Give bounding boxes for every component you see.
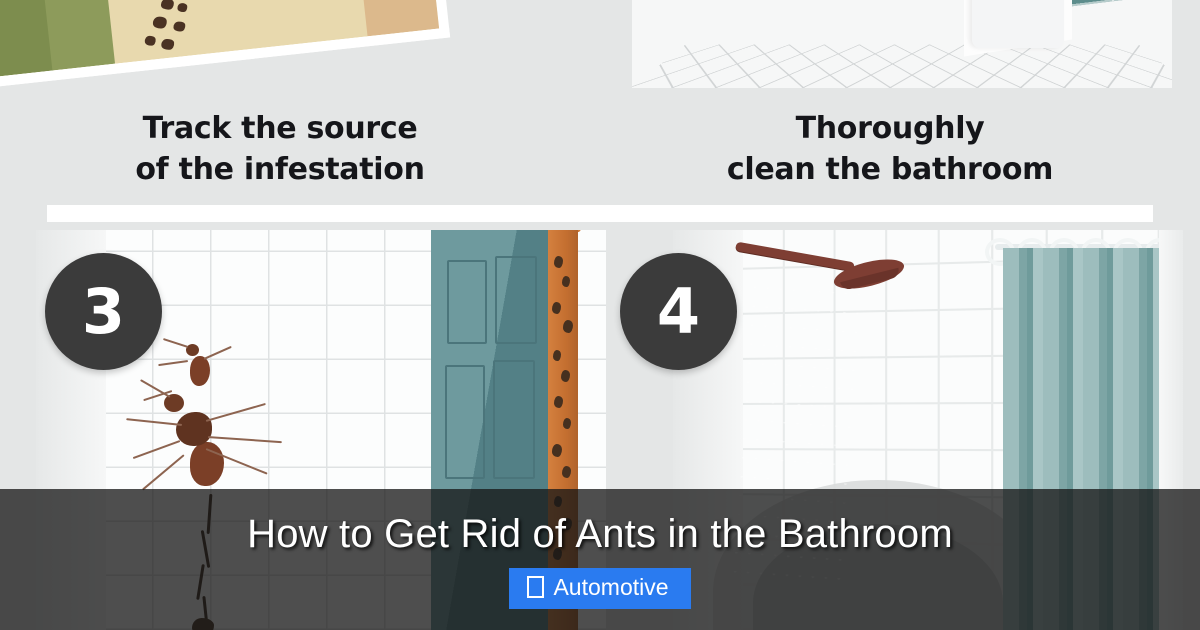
ant-leg bbox=[204, 346, 232, 360]
ant-icon bbox=[553, 350, 561, 361]
ant-trail-on-ground-photo bbox=[0, 0, 450, 91]
step-1-caption-line2: of the infestation bbox=[40, 149, 520, 190]
step-3-number-badge: 3 bbox=[45, 253, 162, 370]
ant-icon bbox=[552, 444, 562, 457]
ground-terrain-graphic bbox=[0, 0, 439, 80]
section-divider bbox=[47, 205, 1153, 222]
step-1-caption-line1: Track the source bbox=[40, 108, 520, 149]
infographic-stage: Track the source of the infestation Thor… bbox=[0, 0, 1200, 630]
page-title: How to Get Rid of Ants in the Bathroom bbox=[0, 512, 1200, 557]
ant-leg bbox=[142, 454, 185, 490]
ant-thorax bbox=[176, 412, 212, 446]
category-badge-label: Automotive bbox=[553, 574, 668, 600]
ant-icon bbox=[563, 418, 571, 429]
row-steps-1-2: Track the source of the infestation Thor… bbox=[0, 0, 1200, 205]
ant-abdomen bbox=[190, 356, 210, 386]
ant-leg bbox=[206, 403, 266, 422]
step-4-number-badge: 4 bbox=[620, 253, 737, 370]
door-panel bbox=[445, 365, 485, 479]
missing-glyph-box-icon bbox=[527, 576, 544, 598]
category-badge-wrapper: Automotive bbox=[0, 568, 1200, 609]
toilet-bowl bbox=[972, 0, 1064, 48]
category-badge[interactable]: Automotive bbox=[509, 568, 690, 609]
door-panel bbox=[495, 256, 537, 344]
bathroom-tiled-floor-photo bbox=[632, 0, 1172, 88]
ant-icon bbox=[561, 370, 570, 382]
step-2-caption-line1: Thoroughly bbox=[640, 108, 1140, 149]
ant-icon bbox=[552, 302, 561, 314]
ant-icon bbox=[562, 466, 571, 478]
ant-icon bbox=[554, 396, 563, 408]
ant-icon bbox=[563, 320, 573, 333]
diagonal-tile-pattern bbox=[632, 44, 1172, 88]
door-panel bbox=[447, 260, 487, 344]
door-panel bbox=[493, 360, 535, 479]
ant-icon bbox=[554, 256, 563, 268]
sand-area bbox=[92, 0, 367, 64]
step-1-caption: Track the source of the infestation bbox=[40, 108, 520, 191]
grass-area-dark bbox=[0, 0, 53, 80]
small-ant-illustration bbox=[164, 338, 254, 398]
step-2-caption: Thoroughly clean the bathroom bbox=[640, 108, 1140, 191]
ant-antenna bbox=[163, 338, 188, 348]
ant-icon bbox=[562, 276, 570, 287]
ant-leg bbox=[208, 436, 282, 443]
step-2-caption-line2: clean the bathroom bbox=[640, 149, 1140, 190]
